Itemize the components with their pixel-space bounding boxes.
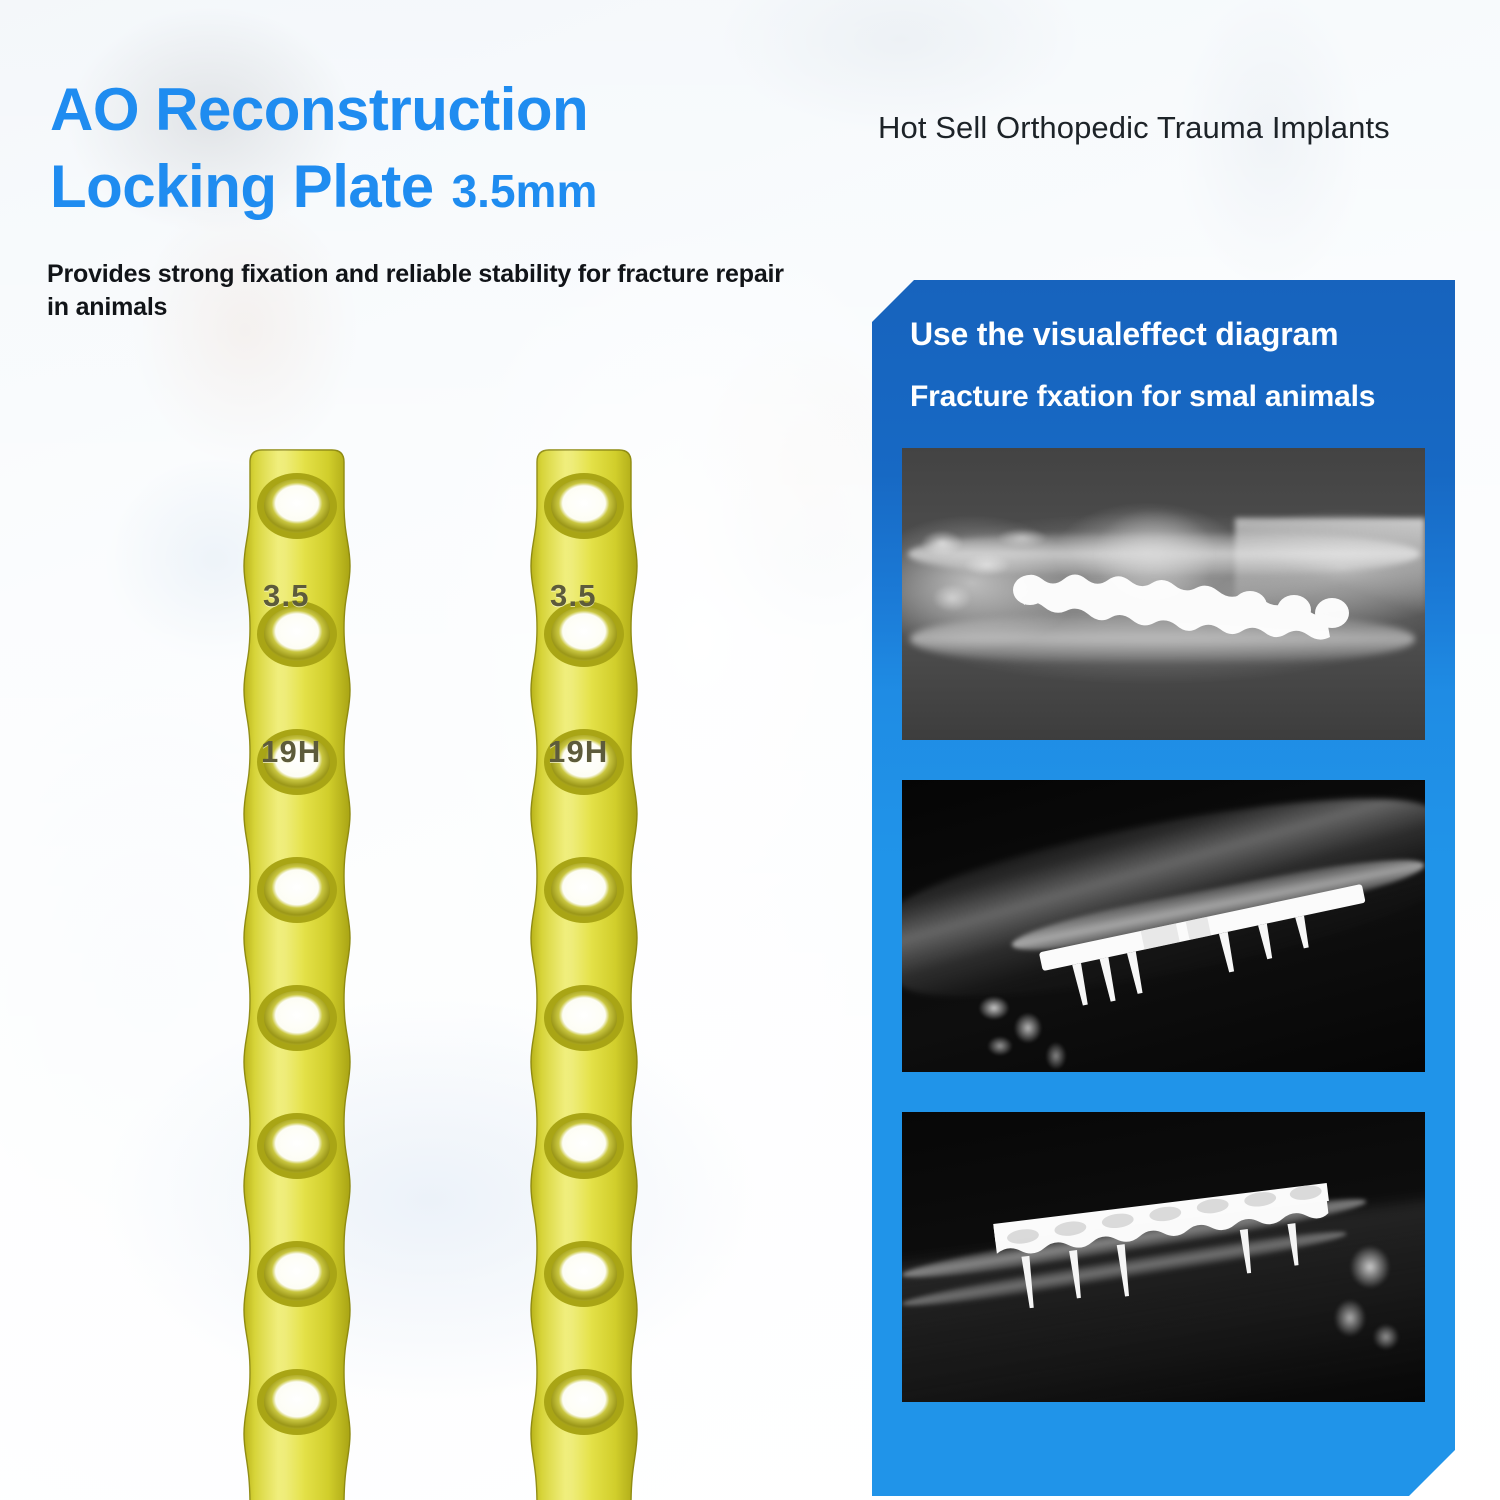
- plate-size-engraving: 3.5: [550, 578, 597, 614]
- locking-plate-right: 3.5 19H: [519, 448, 649, 1500]
- xray-lateral-plate-screws: [902, 780, 1425, 1072]
- panel-subheading: Fracture fxation for smal animals: [910, 380, 1375, 414]
- xray-ap-forearm-plate: [902, 448, 1425, 740]
- xray-2-implant-overlay: [902, 780, 1425, 1072]
- page-title: AO Reconstruction Locking Plate3.5mm: [50, 72, 870, 226]
- title-line-2-text: Locking Plate: [50, 153, 434, 220]
- page-subtitle: Provides strong fixation and reliable st…: [47, 258, 787, 324]
- product-size-tag: 3.5mm: [452, 165, 598, 217]
- visual-effect-panel: Use the visualeffect diagram Fracture fx…: [872, 280, 1455, 1496]
- product-marketing-banner: AO Reconstruction Locking Plate3.5mm Pro…: [0, 0, 1500, 1500]
- locking-plate-left: 3.5 19H: [232, 448, 362, 1500]
- xray-lateral-plate-holes: [902, 1112, 1425, 1402]
- title-line-2: Locking Plate3.5mm: [50, 149, 870, 226]
- plate-hole-count-engraving: 19H: [261, 734, 321, 770]
- xray-3-implant-overlay: [902, 1112, 1425, 1402]
- xray-1-implant-overlay: [902, 448, 1425, 740]
- xray-image-stack: [902, 448, 1425, 1402]
- title-line-1: AO Reconstruction: [50, 72, 870, 149]
- panel-heading: Use the visualeffect diagram: [910, 316, 1338, 353]
- plate-size-engraving: 3.5: [263, 578, 310, 614]
- page-tagline: Hot Sell Orthopedic Trauma Implants: [878, 110, 1390, 146]
- plate-hole-count-engraving: 19H: [548, 734, 608, 770]
